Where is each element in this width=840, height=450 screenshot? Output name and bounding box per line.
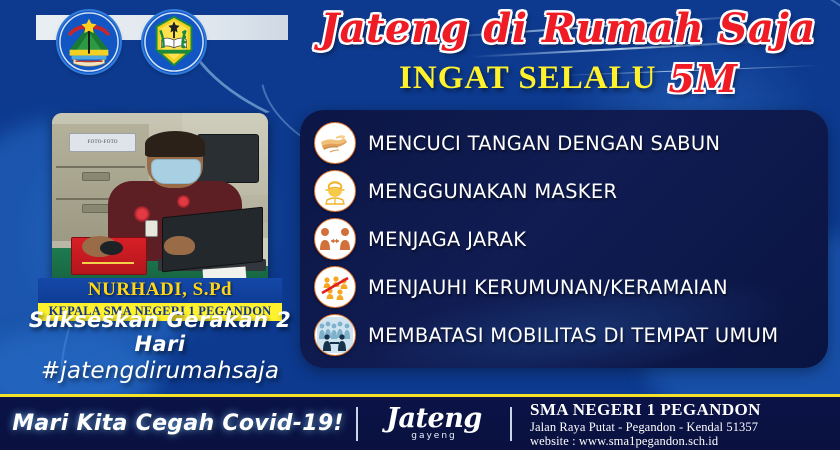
school-address: Jalan Raya Putat - Pegandon - Kendal 513… [530, 420, 840, 434]
campaign-slogan: Sukseskan Gerakan 2 Hari #jatengdirumahs… [20, 308, 300, 384]
photo-person-hand-right [164, 236, 194, 256]
subtitle-badge-5m: 5M [668, 56, 737, 101]
list-item-label: MENJAUHI KERUMUNAN/KERAMAIAN [368, 276, 728, 299]
jateng-province-emblem-icon [58, 11, 120, 73]
footer-slogan: Mari Kita Cegah Covid-19! [0, 411, 356, 436]
list-item: MENCUCI TANGAN DENGAN SABUN [314, 119, 828, 167]
list-item-label: MENCUCI TANGAN DENGAN SABUN [368, 132, 720, 155]
poster-subtitle: INGAT SELALU5M [300, 56, 836, 101]
washing-hands-icon [314, 122, 356, 164]
sma1pegandon-school-emblem-icon [143, 11, 205, 73]
photo-monitor [197, 134, 259, 182]
jateng-gayeng-wordmark: Jateng [386, 406, 481, 432]
footer-bar: Mari Kita Cegah Covid-19! Jateng gayeng … [0, 397, 840, 450]
limit-mobility-icon [314, 314, 356, 356]
list-item: MENGGUNAKAN MASKER [314, 167, 828, 215]
list-item: MENJAGA JARAK [314, 215, 828, 263]
social-distance-icon [314, 218, 356, 260]
principal-photo: FOTO-FOTO [52, 113, 268, 291]
slogan-line-1: Sukseskan Gerakan 2 Hari [20, 308, 300, 356]
list-item: MEMBATASI MOBILITAS DI TEMPAT UMUM [314, 311, 828, 359]
headline-block: Jateng di Rumah Saja INGAT SELALU5M [300, 6, 836, 101]
cabinet-label: FOTO-FOTO [69, 133, 136, 153]
protocol-list: MENCUCI TANGAN DENGAN SABUN MENGGUNAKAN … [300, 110, 828, 359]
photo-id-badge [145, 220, 158, 237]
face-mask-icon [314, 170, 356, 212]
school-contact-block: SMA NEGERI 1 PEGANDON Jalan Raya Putat -… [512, 400, 840, 448]
no-crowd-icon [314, 266, 356, 308]
jateng-gayeng-logo: Jateng gayeng [358, 406, 510, 441]
poster-canvas: Jateng di Rumah Saja INGAT SELALU5M [0, 0, 840, 450]
photo-person-mask [151, 159, 201, 184]
poster-title: Jateng di Rumah Saja [300, 6, 836, 52]
list-item: MENJAUHI KERUMUNAN/KERAMAIAN [314, 263, 828, 311]
list-item-label: MEMBATASI MOBILITAS DI TEMPAT UMUM [368, 324, 778, 347]
health-protocol-panel: MENCUCI TANGAN DENGAN SABUN MENGGUNAKAN … [300, 110, 828, 368]
photo-person-hair [145, 131, 205, 158]
photo-image: FOTO-FOTO [52, 113, 268, 291]
school-name: SMA NEGERI 1 PEGANDON [530, 400, 840, 420]
principal-name: NURHADI, S.Pd [38, 278, 282, 303]
school-website: website : www.sma1pegandon.sch.id [530, 434, 840, 448]
subtitle-text: INGAT SELALU [399, 60, 656, 96]
slogan-hashtag: #jatengdirumahsaja [20, 358, 300, 384]
list-item-label: MENGGUNAKAN MASKER [368, 180, 617, 203]
list-item-label: MENJAGA JARAK [368, 228, 526, 251]
jateng-gayeng-tagline: gayeng [411, 431, 457, 441]
